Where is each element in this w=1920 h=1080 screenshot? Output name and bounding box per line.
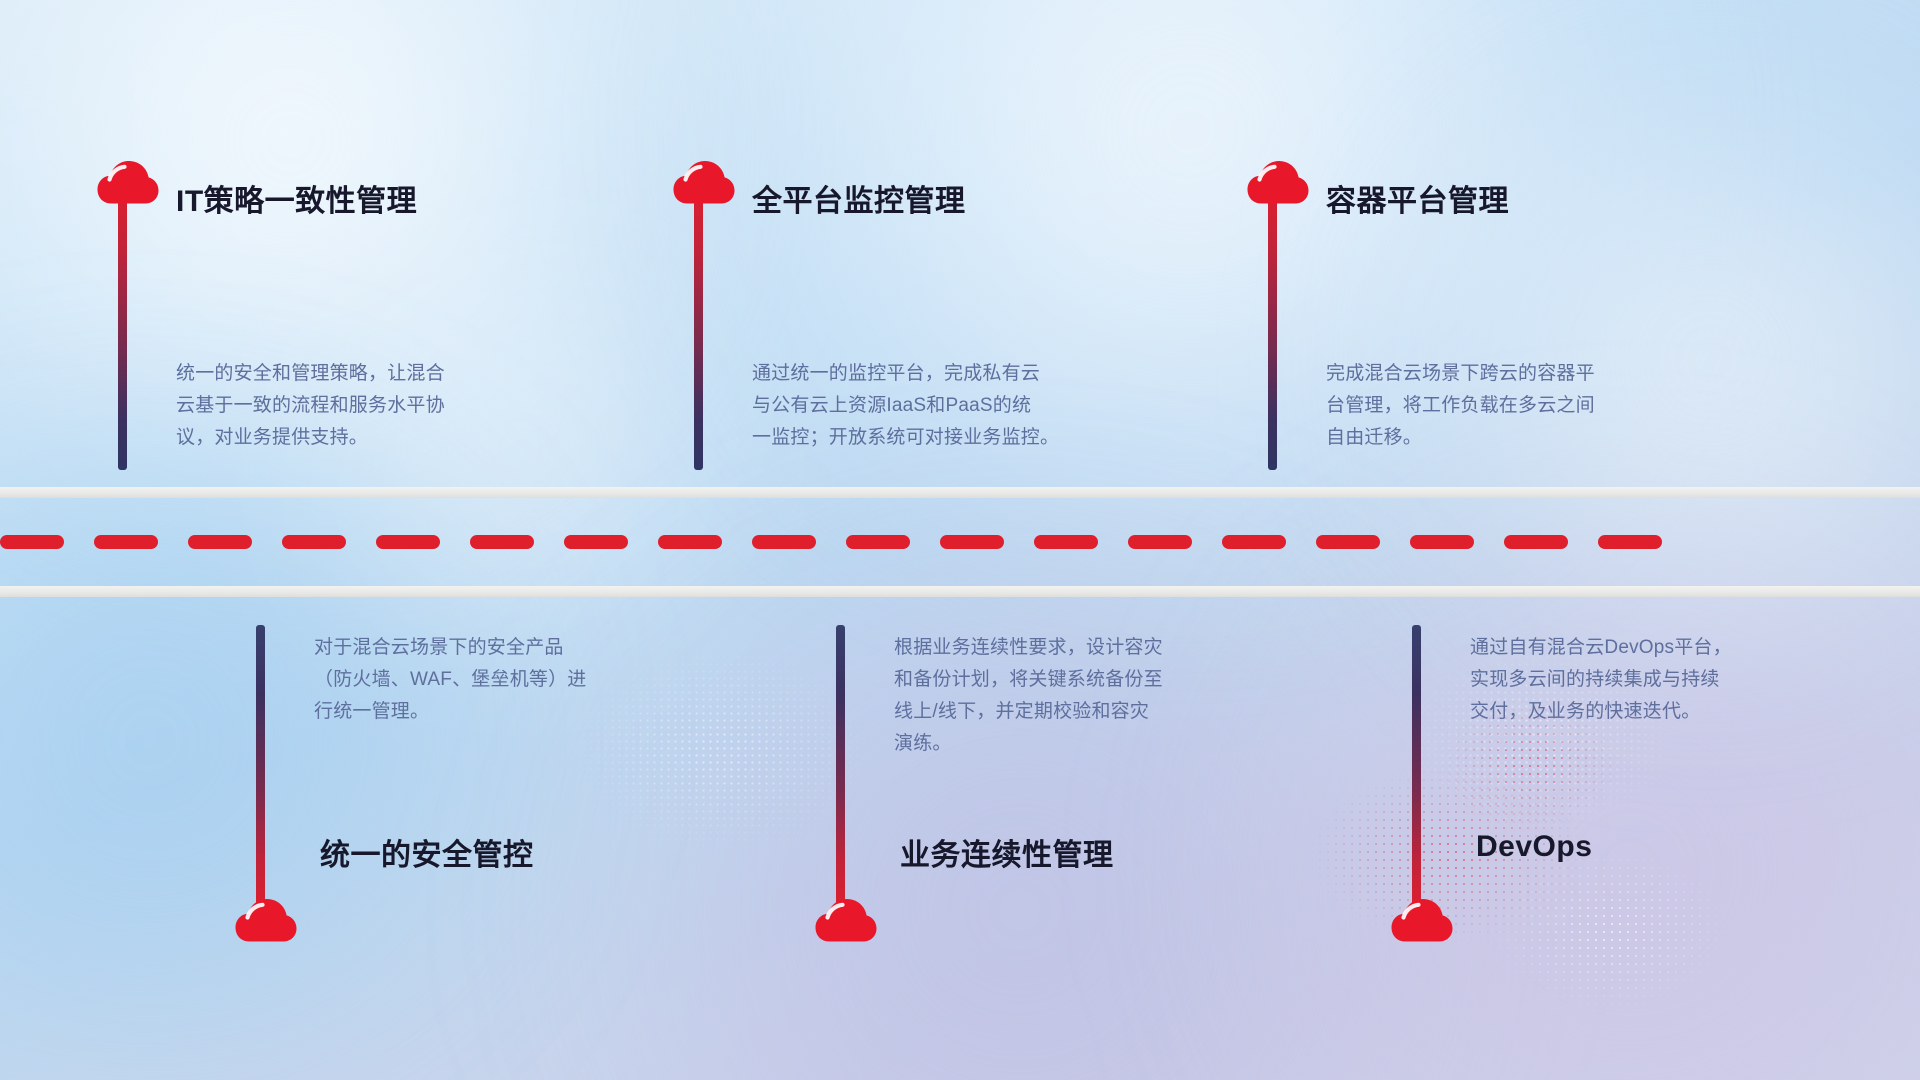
item-title: 容器平台管理 [1326, 176, 1509, 220]
item-body: 通过自有混合云DevOps平台， 实现多云间的持续集成与持续 交付，及业务的快速… [1470, 632, 1910, 728]
timeline-stem [836, 625, 845, 915]
item-body: 根据业务连续性要求，设计容灾 和备份计划，将关键系统备份至 线上/线下，并定期校… [894, 632, 1344, 760]
road-dash [940, 535, 1004, 549]
road-dash [470, 535, 534, 549]
cloud-icon [97, 160, 159, 204]
cloud-icon [235, 898, 297, 942]
cloud-icon [815, 898, 877, 942]
road-dash [658, 535, 722, 549]
road-dash [1410, 535, 1474, 549]
road-dash [1598, 535, 1662, 549]
road-dash [376, 535, 440, 549]
road-dash [1222, 535, 1286, 549]
cloud-icon [673, 160, 735, 204]
timeline-stem [694, 185, 703, 470]
road-divider [0, 487, 1920, 597]
item-title: 全平台监控管理 [752, 176, 966, 220]
road-dash [1034, 535, 1098, 549]
road-dash [188, 535, 252, 549]
timeline-stem [118, 185, 127, 470]
background-dot-texture [1480, 840, 1740, 1020]
road-dashed-centerline [0, 535, 1920, 549]
road-band-bottom [0, 586, 1920, 597]
road-dash [1316, 535, 1380, 549]
item-body: 统一的安全和管理策略，让混合 云基于一致的流程和服务水平协 议，对业务提供支持。 [176, 358, 616, 454]
road-dash [94, 535, 158, 549]
road-dash [846, 535, 910, 549]
item-title: DevOps [1476, 830, 1592, 864]
road-dash [282, 535, 346, 549]
item-title: 统一的安全管控 [320, 830, 534, 874]
road-band-top [0, 487, 1920, 498]
road-dash [0, 535, 64, 549]
cloud-icon [1391, 898, 1453, 942]
item-title: 业务连续性管理 [900, 830, 1114, 874]
road-dash [752, 535, 816, 549]
item-body: 通过统一的监控平台，完成私有云 与公有云上资源IaaS和PaaS的统 一监控；开… [752, 358, 1212, 454]
cloud-icon [1247, 160, 1309, 204]
road-dash [1504, 535, 1568, 549]
road-dash [1128, 535, 1192, 549]
item-body: 完成混合云场景下跨云的容器平 台管理，将工作负载在多云之间 自由迁移。 [1326, 358, 1766, 454]
item-body: 对于混合云场景下的安全产品 （防火墙、WAF、堡垒机等）进 行统一管理。 [314, 632, 764, 728]
timeline-stem [1268, 185, 1277, 470]
timeline-stem [1412, 625, 1421, 915]
item-title: IT策略一致性管理 [176, 176, 417, 220]
timeline-stem [256, 625, 265, 915]
road-dash [564, 535, 628, 549]
